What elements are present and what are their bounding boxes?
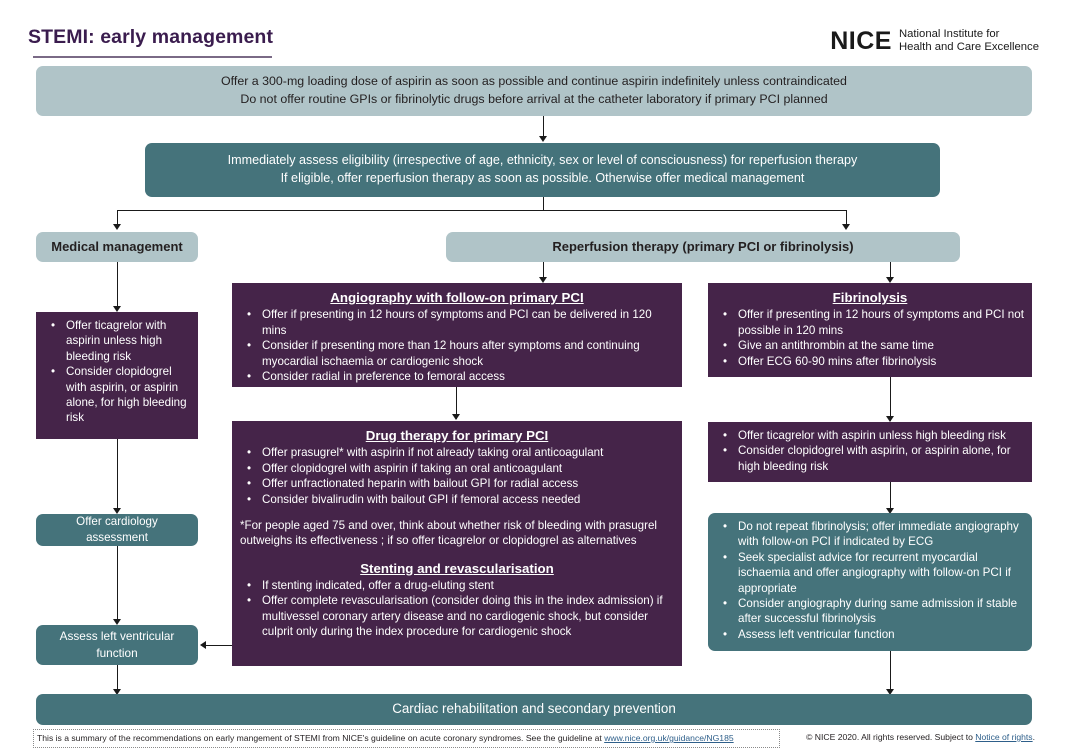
footer-notice-of-rights-link[interactable]: Notice of rights <box>975 732 1032 742</box>
nice-logo-text: National Institute for Health and Care E… <box>899 28 1039 55</box>
node-fibrinolysis-drugs-list: Offer ticagrelor with aspirin unless hig… <box>716 428 1024 474</box>
node-cardiac-rehab-label: Cardiac rehabilitation and secondary pre… <box>392 700 676 719</box>
node-eligibility-line1: Immediately assess eligibility (irrespec… <box>228 152 858 170</box>
arrowhead-assess-lv-from-stenting <box>200 641 206 649</box>
arrowhead-reperfusion <box>842 224 850 230</box>
list-item: If stenting indicated, offer a drug-elut… <box>260 578 674 593</box>
nice-logo-line1: National Institute for <box>899 28 1039 41</box>
list-item: Offer ECG 60-90 mins after fibrinolysis <box>736 354 1024 369</box>
connector-medmgmt-to-drugs <box>117 262 118 309</box>
node-angiography-title: Angiography with follow-on primary PCI <box>240 289 674 306</box>
connector-assess-lv-to-rehab <box>117 665 118 692</box>
list-item: Offer prasugrel* with aspirin if not alr… <box>260 445 674 460</box>
node-assess-lv-label: Assess left ventricular function <box>48 628 186 661</box>
node-fibrinolysis: Fibrinolysis Offer if presenting in 12 h… <box>708 283 1032 377</box>
node-stenting-title: Stenting and revascularisation <box>240 560 674 577</box>
list-item: Offer clopidogrel with aspirin if taking… <box>260 461 674 476</box>
node-aspirin: Offer a 300-mg loading dose of aspirin a… <box>36 66 1032 116</box>
list-item: Offer if presenting in 12 hours of sympt… <box>736 307 1024 338</box>
connector-stenting-to-assess-lv <box>206 645 232 646</box>
list-item: Consider radial in preference to femoral… <box>260 369 674 384</box>
connector-fibrinolysis-to-drugs <box>890 377 891 421</box>
node-medical-management: Medical management <box>36 232 198 262</box>
node-fibrinolysis-list: Offer if presenting in 12 hours of sympt… <box>716 307 1024 369</box>
connector-eligibility-split <box>117 210 846 211</box>
page-title: STEMI: early management <box>28 26 273 49</box>
list-item: Offer complete revascularisation (consid… <box>260 593 674 639</box>
node-medical-drugs-list: Offer ticagrelor with aspirin unless hig… <box>44 318 190 426</box>
list-item: Consider bivalirudin with bailout GPI if… <box>260 492 674 507</box>
connector-cardiology-to-assess-lv <box>117 546 118 622</box>
node-cardiology-assessment-label: Offer cardiology assessment <box>48 514 186 546</box>
node-assess-lv: Assess left ventricular function <box>36 625 198 665</box>
footer-right-text: © NICE 2020. All rights reserved. Subjec… <box>806 732 975 742</box>
node-fibrinolysis-followup-list: Do not repeat fibrinolysis; offer immedi… <box>716 519 1022 642</box>
nice-logo-line2: Health and Care Excellence <box>899 41 1039 54</box>
footer-guideline-link[interactable]: www.nice.org.uk/guidance/NG185 <box>604 733 733 743</box>
arrowhead-drug-therapy <box>452 414 460 420</box>
list-item: Consider if presenting more than 12 hour… <box>260 338 674 369</box>
list-item: Seek specialist advice for recurrent myo… <box>736 550 1022 596</box>
node-drug-therapy-note: *For people aged 75 and over, think abou… <box>240 518 674 549</box>
connector-followup-to-rehab <box>890 651 891 692</box>
node-fibrinolysis-title: Fibrinolysis <box>716 289 1024 306</box>
list-item: Assess left ventricular function <box>736 627 1022 642</box>
node-angiography-list: Offer if presenting in 12 hours of sympt… <box>240 307 674 384</box>
node-stenting-list: If stenting indicated, offer a drug-elut… <box>240 578 674 640</box>
node-fibrinolysis-drugs: Offer ticagrelor with aspirin unless hig… <box>708 422 1032 482</box>
list-item: Offer unfractionated heparin with bailou… <box>260 476 674 491</box>
footer-right: © NICE 2020. All rights reserved. Subjec… <box>786 729 1035 748</box>
node-drug-therapy-list: Offer prasugrel* with aspirin if not alr… <box>240 445 674 507</box>
list-item: Consider angiography during same admissi… <box>736 596 1022 627</box>
nice-logo: NICE National Institute for Health and C… <box>830 28 1039 55</box>
footer-left: This is a summary of the recommendations… <box>33 729 780 748</box>
node-angiography: Angiography with follow-on primary PCI O… <box>232 283 682 387</box>
list-item: Consider clopidogrel with aspirin, or as… <box>64 364 190 426</box>
connector-eligibility-stem <box>543 197 544 210</box>
node-eligibility-line2: If eligible, offer reperfusion therapy a… <box>228 170 858 188</box>
connector-aspirin-to-eligibility <box>543 116 544 138</box>
node-drug-therapy: Drug therapy for primary PCI Offer prasu… <box>232 421 682 666</box>
node-aspirin-line2: Do not offer routine GPIs or fibrinolyti… <box>221 91 847 109</box>
arrowhead-eligibility <box>539 136 547 142</box>
node-medical-drugs: Offer ticagrelor with aspirin unless hig… <box>36 312 198 439</box>
node-cardiac-rehab: Cardiac rehabilitation and secondary pre… <box>36 694 1032 725</box>
node-drug-therapy-title: Drug therapy for primary PCI <box>240 427 674 444</box>
list-item: Offer ticagrelor with aspirin unless hig… <box>64 318 190 364</box>
list-item: Offer ticagrelor with aspirin unless hig… <box>736 428 1024 443</box>
footer-left-text: This is a summary of the recommendations… <box>37 733 604 743</box>
list-item: Offer if presenting in 12 hours of sympt… <box>260 307 674 338</box>
node-medical-management-label: Medical management <box>51 238 183 257</box>
nice-logo-mark: NICE <box>830 29 892 54</box>
title-underline <box>33 56 272 58</box>
node-reperfusion-therapy-label: Reperfusion therapy (primary PCI or fibr… <box>552 238 853 257</box>
connector-drugs-to-cardiology <box>117 439 118 511</box>
list-item: Give an antithrombin at the same time <box>736 338 1024 353</box>
node-eligibility: Immediately assess eligibility (irrespec… <box>145 143 940 197</box>
arrowhead-medical-management <box>113 224 121 230</box>
list-item: Do not repeat fibrinolysis; offer immedi… <box>736 519 1022 550</box>
node-fibrinolysis-followup: Do not repeat fibrinolysis; offer immedi… <box>708 513 1032 651</box>
footer-right-text-end: . <box>1033 732 1035 742</box>
list-item: Consider clopidogrel with aspirin, or as… <box>736 443 1024 474</box>
node-reperfusion-therapy: Reperfusion therapy (primary PCI or fibr… <box>446 232 960 262</box>
flowchart-canvas: STEMI: early management NICE National In… <box>0 0 1067 754</box>
node-cardiology-assessment: Offer cardiology assessment <box>36 514 198 546</box>
node-aspirin-line1: Offer a 300-mg loading dose of aspirin a… <box>221 73 847 91</box>
